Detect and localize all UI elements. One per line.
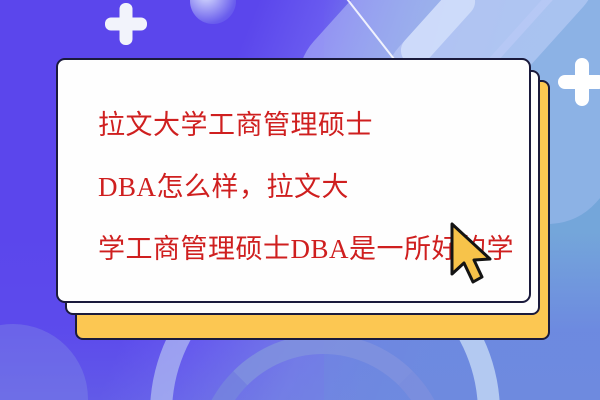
plus-icon-right	[558, 58, 600, 106]
arrow-cursor-icon	[449, 222, 495, 284]
thumbnail-canvas: 拉文大学工商管理硕士 DBA怎么样，拉文大 学工商管理硕士DBA是一所好的学	[0, 0, 600, 400]
plus-icon-left	[105, 3, 147, 45]
